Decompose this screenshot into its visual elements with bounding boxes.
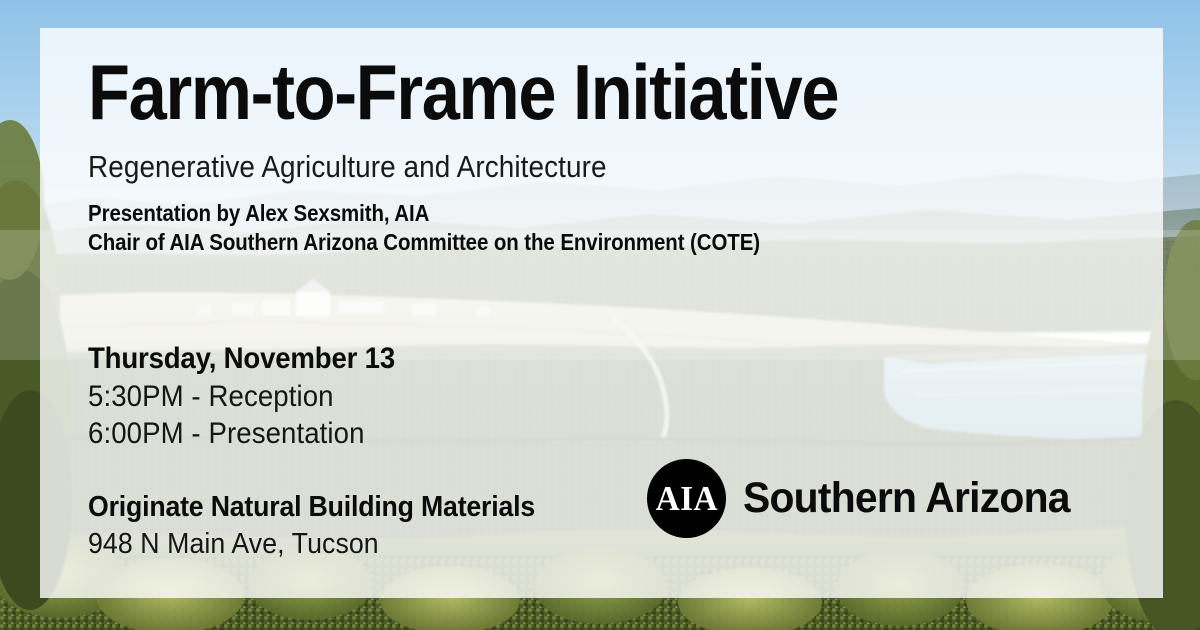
presenter-role: Chair of AIA Southern Arizona Committee … [88, 228, 760, 257]
presenter-name: Presentation by Alex Sexsmith, AIA [88, 199, 760, 228]
event-time-reception: 5:30PM - Reception [88, 378, 395, 415]
aia-monogram-text: AIA [655, 481, 717, 516]
event-subtitle: Regenerative Agriculture and Architectur… [88, 148, 607, 186]
venue-name: Originate Natural Building Materials [88, 489, 535, 526]
aia-circle-icon: AIA [647, 459, 726, 538]
date-time-block: Thursday, November 13 5:30PM - Reception… [88, 340, 422, 452]
aia-chapter-name: Southern Arizona [743, 476, 1070, 521]
event-date: Thursday, November 13 [88, 340, 395, 378]
venue-block: Originate Natural Building Materials 948… [88, 489, 574, 563]
aia-logo: AIA Southern Arizona [647, 459, 1087, 538]
event-title: Farm-to-Frame Initiative [88, 50, 838, 134]
event-banner: Farm-to-Frame Initiative Regenerative Ag… [0, 0, 1200, 630]
venue-address: 948 N Main Ave, Tucson [88, 526, 535, 563]
event-time-presentation: 6:00PM - Presentation [88, 415, 395, 452]
presenter-block: Presentation by Alex Sexsmith, AIA Chair… [88, 199, 760, 257]
